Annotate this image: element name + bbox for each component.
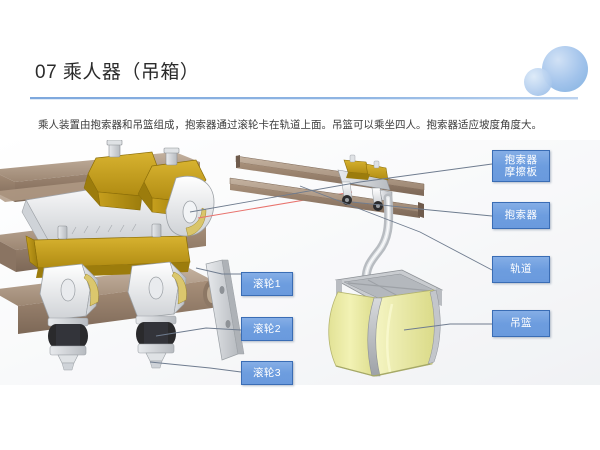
slide-canvas: 07 乘人器（吊箱） 乘人装置由抱索器和吊篮组成，抱索器通过滚轮卡在轨道上面。吊… <box>0 0 600 450</box>
small-blue-circle-icon <box>524 68 552 96</box>
page-title: 07 乘人器（吊箱） <box>35 57 199 84</box>
callout-roller-1[interactable]: 滚轮1 <box>241 272 293 296</box>
callout-roller-2[interactable]: 滚轮2 <box>241 317 293 341</box>
large-blue-circle-icon <box>542 46 588 92</box>
callout-grip-friction-plate-line1: 抱索器 <box>505 154 538 167</box>
subtitle-text: 乘人装置由抱索器和吊篮组成，抱索器通过滚轮卡在轨道上面。吊篮可以乘坐四人。抱索器… <box>38 118 578 132</box>
callout-roller-2-label: 滚轮2 <box>253 323 281 336</box>
callout-roller-3[interactable]: 滚轮3 <box>241 361 293 385</box>
callout-roller-1-label: 滚轮1 <box>253 278 281 291</box>
callout-track-label: 轨道 <box>510 263 532 276</box>
callout-grip-friction-plate[interactable]: 抱索器 摩擦板 <box>492 150 550 182</box>
header-divider-shadow <box>30 99 578 100</box>
callout-cabin[interactable]: 吊篮 <box>492 310 550 337</box>
callout-track[interactable]: 轨道 <box>492 256 550 283</box>
callout-roller-3-label: 滚轮3 <box>253 367 281 380</box>
callout-grip-label: 抱索器 <box>505 209 538 222</box>
callout-cabin-label: 吊篮 <box>510 317 532 330</box>
callout-grip[interactable]: 抱索器 <box>492 202 550 229</box>
callout-grip-friction-plate-line2: 摩擦板 <box>505 166 538 179</box>
